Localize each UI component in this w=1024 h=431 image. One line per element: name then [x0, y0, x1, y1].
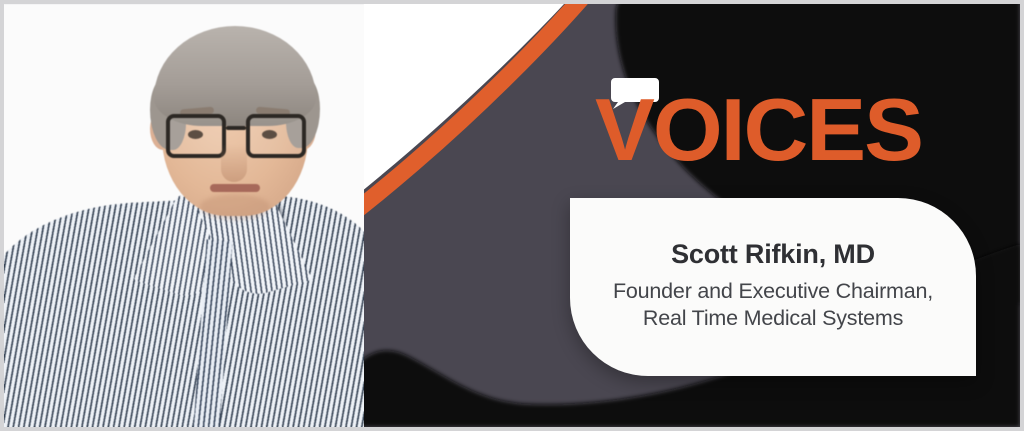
glasses-lens-left: [166, 114, 226, 158]
speaker-name: Scott Rifkin, MD: [671, 239, 875, 269]
speaker-role-line-2: Real Time Medical Systems: [643, 305, 903, 332]
portrait-nose: [221, 144, 247, 182]
voices-text: VOICES: [595, 86, 922, 174]
glasses-lens-right: [246, 114, 306, 158]
speaker-info-card: Scott Rifkin, MD Founder and Executive C…: [570, 198, 976, 376]
portrait-photo: [4, 4, 364, 427]
voices-wordmark: VOICES: [595, 70, 935, 174]
speaker-role-line-1: Founder and Executive Chairman,: [613, 278, 933, 305]
voices-banner: VOICES Scott Rifkin, MD Founder and Exec…: [0, 0, 1024, 431]
portrait-mouth: [210, 184, 260, 192]
glasses-bridge: [226, 126, 246, 130]
banner-stage: VOICES Scott Rifkin, MD Founder and Exec…: [4, 4, 1020, 427]
portrait-chin: [200, 194, 270, 220]
